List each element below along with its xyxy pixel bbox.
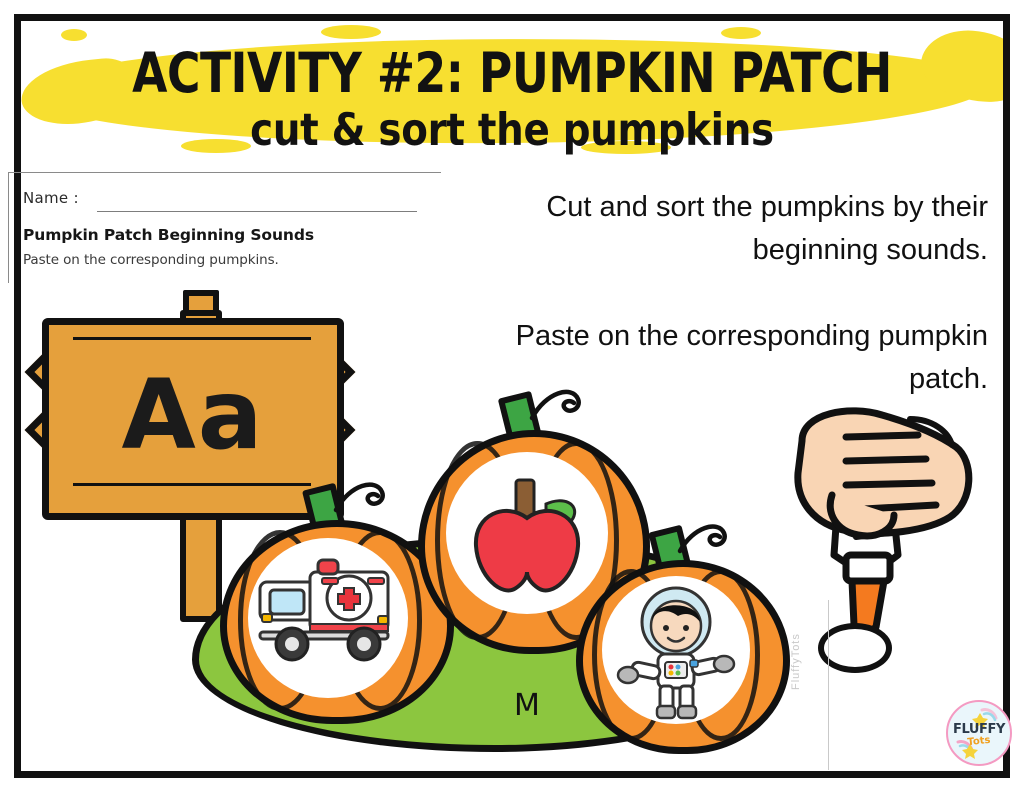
name-input-line[interactable]: [97, 211, 417, 212]
grass-sprout-mark: M: [514, 688, 540, 723]
activity-title: ACTIVITY #2: PUMPKIN PATCH: [36, 45, 989, 104]
pumpkin-vine-curl-icon: [332, 476, 392, 522]
astronaut-icon: [602, 576, 750, 724]
activity-subtitle: cut & sort the pumpkins: [36, 107, 989, 154]
pumpkin-card-astronaut[interactable]: [576, 560, 776, 740]
pumpkin-patch-scene: M: [180, 400, 800, 770]
brush-speck-3: [721, 27, 761, 39]
brush-speck-2: [321, 25, 381, 39]
fluffy-tots-logo: FLUFFY Tots: [946, 700, 1012, 766]
watermark-divider-line: [828, 600, 829, 770]
header-banner: ACTIVITY #2: PUMPKIN PATCH cut & sort th…: [21, 21, 1003, 159]
watermark-text: FluffyTots: [790, 633, 802, 690]
pumpkin-card-ambulance[interactable]: [220, 520, 440, 710]
sign-plank-line-top: [73, 337, 311, 340]
worksheet-subtitle: Paste on the corresponding pumpkins.: [23, 252, 279, 268]
picture-circle-ambulance: [248, 538, 408, 698]
picture-circle-astronaut: [602, 576, 750, 724]
worksheet-page: ACTIVITY #2: PUMPKIN PATCH cut & sort th…: [0, 0, 1024, 792]
glue-drop: [818, 623, 892, 673]
brush-speck-1: [61, 29, 87, 41]
pumpkin-vine-curl-icon: [528, 382, 588, 430]
name-block: Name : Pumpkin Patch Beginning Sounds Pa…: [8, 172, 441, 283]
name-label: Name :: [23, 189, 79, 207]
instructions-block: Cut and sort the pumpkins by their begin…: [458, 186, 988, 401]
instruction-paragraph-1: Cut and sort the pumpkins by their begin…: [458, 186, 988, 272]
pumpkin-vine-curl-icon: [676, 518, 734, 562]
ambulance-icon: [248, 538, 408, 698]
worksheet-title: Pumpkin Patch Beginning Sounds: [23, 226, 314, 244]
